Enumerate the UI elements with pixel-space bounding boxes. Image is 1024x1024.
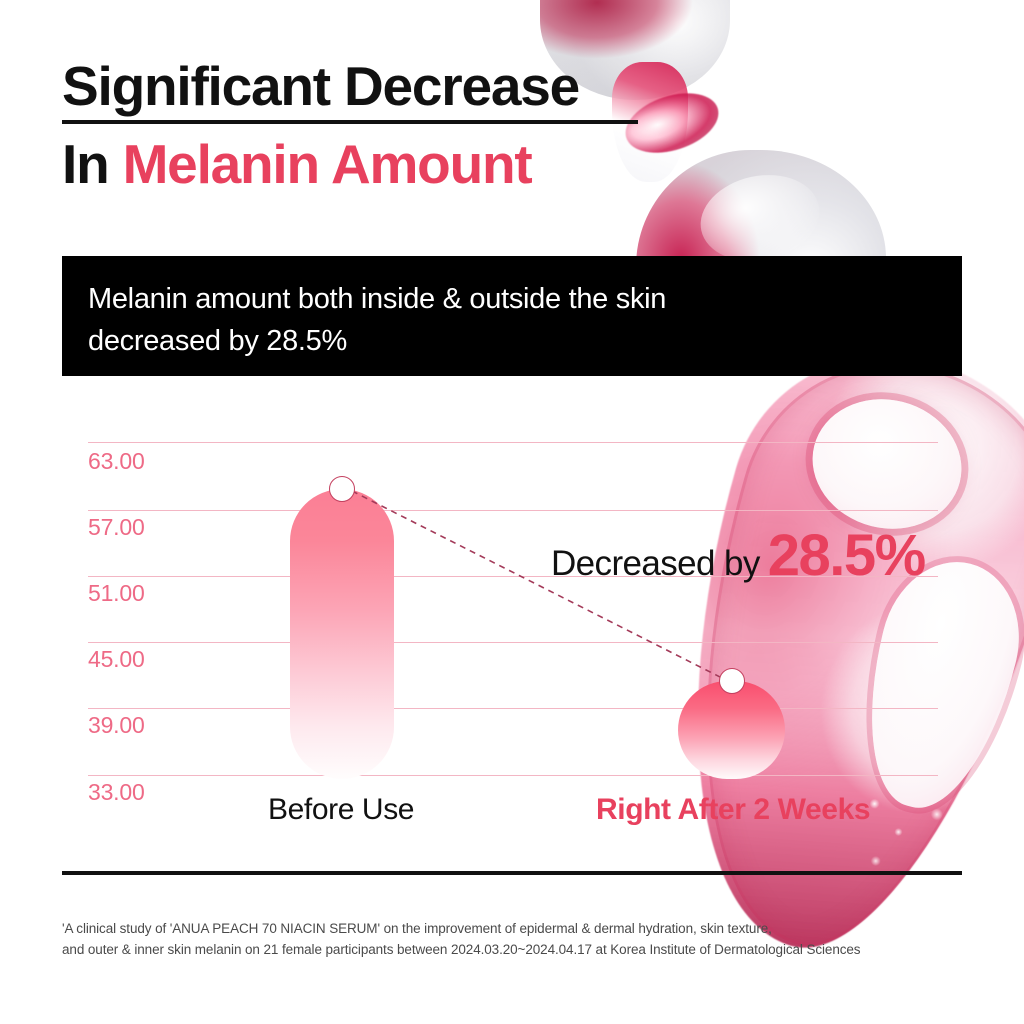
x-axis-label-before-use: Before Use [268,793,414,827]
data-point-marker-after [719,668,745,694]
decrease-callout-value: 28.5% [768,523,925,588]
decrease-callout: Decreased by28.5% [551,522,925,589]
study-footnote-line-1: 'A clinical study of 'ANUA PEACH 70 NIAC… [62,918,860,939]
study-footnote: 'A clinical study of 'ANUA PEACH 70 NIAC… [62,918,860,960]
claim-banner: Melanin amount both inside & outside the… [62,256,962,376]
headline-line-2: In Melanin Amount [62,129,638,199]
study-footnote-line-2: and outer & inner skin melanin on 21 fem… [62,939,860,960]
decrease-callout-label: Decreased by [551,544,760,583]
headline-block: Significant Decrease In Melanin Amount [62,54,638,199]
x-axis-label-right-after-2-weeks: Right After 2 Weeks [596,793,870,827]
headline-line-2-prefix: In [62,133,123,195]
infographic-page: 63.00 57.00 51.00 45.00 39.00 33.00 Decr… [0,0,1024,1024]
data-point-marker-before [329,476,355,502]
claim-banner-line-1: Melanin amount both inside & outside the… [88,278,962,320]
headline-line-1: Significant Decrease [62,54,638,118]
headline-underline [62,120,638,124]
claim-banner-line-2: decreased by 28.5% [88,320,962,362]
headline-line-2-accent: Melanin Amount [123,133,532,195]
footer-divider [62,871,962,875]
